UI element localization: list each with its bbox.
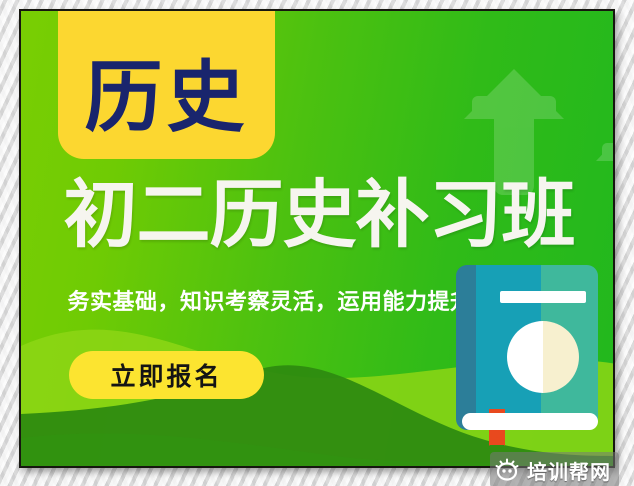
sun-face-eye-right [508, 469, 511, 472]
page-title: 初二历史补习班 [27, 178, 611, 252]
subtitle-text: 务实基础，知识考察灵活，运用能力提升 [35, 291, 505, 315]
subject-badge-label: 历史 [84, 59, 248, 159]
sun-face-outline [498, 464, 516, 480]
up-arrow-icon [464, 41, 564, 191]
book-pages-edge [462, 413, 598, 430]
enroll-now-button[interactable]: 立即报名 [69, 351, 264, 399]
book-circle-emblem [507, 321, 579, 393]
arrow-head-base [602, 143, 615, 161]
book-title-bar [500, 291, 586, 303]
watermark: 培训帮网 [490, 452, 619, 486]
subject-badge: 历史 [58, 9, 275, 159]
promotional-poster: 历史 初二历史补习班 务实基础，知识考察灵活，运用能力提升 立即报名 [19, 9, 615, 468]
enroll-now-button-label: 立即报名 [110, 357, 222, 393]
watermark-label: 培训帮网 [527, 456, 611, 485]
screenshot-canvas: 历史 初二历史补习班 务实基础，知识考察灵活，运用能力提升 立即报名 [0, 0, 634, 486]
sun-face-icon [494, 458, 520, 482]
book-icon [456, 259, 613, 437]
sun-face-eye-left [502, 469, 505, 472]
